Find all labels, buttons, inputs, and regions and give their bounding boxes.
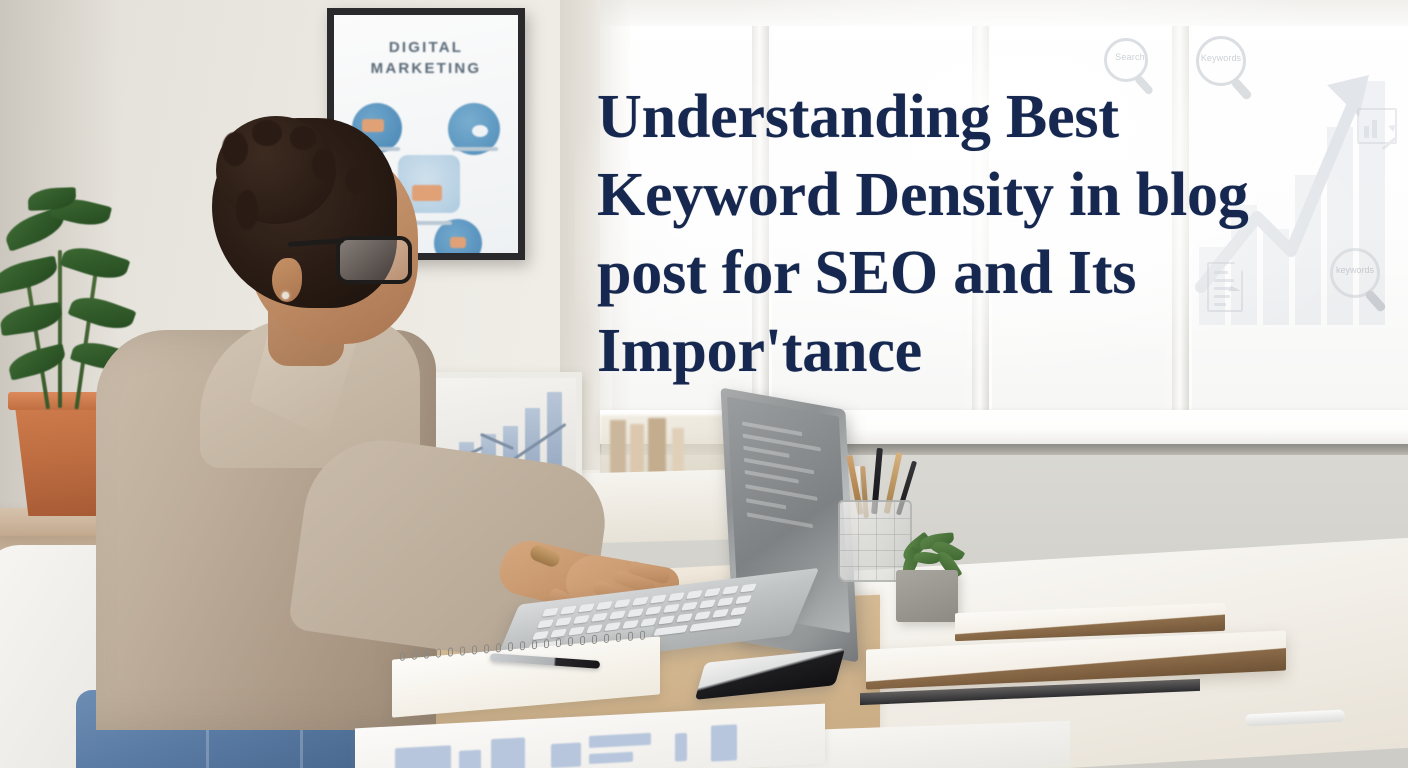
cup-mesh-line	[894, 502, 895, 580]
key[interactable]	[542, 608, 559, 617]
poster-title-line-2: MARKETING	[371, 60, 482, 77]
key[interactable]	[694, 611, 711, 620]
poster-line	[452, 147, 498, 151]
hair-curl	[236, 190, 258, 230]
key[interactable]	[578, 603, 595, 612]
key[interactable]	[573, 615, 590, 624]
earring	[282, 292, 289, 299]
eyeglasses	[336, 236, 412, 284]
key[interactable]	[609, 610, 626, 619]
key[interactable]	[676, 613, 693, 622]
key[interactable]	[632, 597, 649, 606]
key[interactable]	[550, 629, 567, 638]
key[interactable]	[735, 595, 752, 604]
poster-accent	[472, 125, 488, 137]
screen-content-line	[743, 446, 789, 458]
key[interactable]	[560, 605, 577, 614]
key[interactable]	[699, 599, 716, 608]
banner-image: DIGITAL MARKETING	[0, 0, 1408, 768]
key[interactable]	[614, 599, 631, 608]
headline-line-1: Understanding Best	[597, 78, 1357, 156]
key[interactable]	[722, 586, 739, 595]
cup-mesh-line	[858, 502, 859, 580]
headline-line-3: post for SEO and Its	[597, 234, 1357, 312]
key[interactable]	[591, 613, 608, 622]
cup-mesh-line	[840, 518, 910, 519]
poster-title: DIGITAL MARKETING	[334, 37, 518, 79]
cup-mesh-line	[876, 502, 877, 580]
key[interactable]	[704, 588, 721, 597]
key[interactable]	[650, 594, 667, 603]
hair-curl	[252, 120, 282, 146]
key[interactable]	[668, 592, 685, 601]
cup-mesh-line	[840, 550, 910, 551]
key[interactable]	[730, 607, 747, 616]
report-chart-bar	[675, 733, 687, 762]
hair-curl	[312, 150, 334, 180]
report-text-line	[589, 733, 651, 748]
report-chart-bar	[551, 742, 581, 768]
screen-content-line	[747, 512, 813, 528]
key[interactable]	[596, 601, 613, 610]
headline-line-2: Keyword Density in blog	[597, 156, 1357, 234]
poster-accent	[412, 185, 442, 201]
report-chart-bar	[711, 724, 737, 761]
poster-accent	[362, 119, 384, 132]
report-chart-bar	[395, 745, 451, 768]
key[interactable]	[537, 619, 554, 628]
headline-line-4: Impor'tance	[597, 312, 1357, 390]
succulent-pot	[896, 570, 958, 622]
key[interactable]	[645, 606, 662, 615]
report-chart-bar	[491, 737, 525, 768]
hair-curl	[346, 168, 364, 194]
hair-curl	[222, 132, 248, 166]
window-header	[600, 0, 1408, 26]
poster-accent	[450, 237, 466, 248]
report-text-line	[589, 752, 633, 764]
screen-content-line	[745, 470, 799, 484]
report-chart-bar	[459, 750, 481, 768]
poster-title-line-1: DIGITAL	[389, 39, 463, 56]
plant-stem	[58, 250, 62, 408]
screen-content-line	[742, 421, 802, 436]
cup-mesh-line	[840, 534, 910, 535]
key[interactable]	[681, 602, 698, 611]
key[interactable]	[717, 597, 734, 606]
key[interactable]	[653, 625, 688, 636]
key[interactable]	[663, 604, 680, 613]
key[interactable]	[686, 590, 703, 599]
key[interactable]	[640, 618, 657, 627]
key[interactable]	[740, 583, 757, 592]
hair-curl	[290, 126, 316, 150]
cup-mesh-line	[840, 566, 910, 567]
key[interactable]	[658, 615, 675, 624]
key[interactable]	[712, 609, 729, 618]
screen-content-line	[746, 498, 786, 509]
key[interactable]	[627, 608, 644, 617]
key[interactable]	[555, 617, 572, 626]
page-title: Understanding Best Keyword Density in bl…	[597, 78, 1357, 390]
screen-content-line	[745, 484, 817, 501]
